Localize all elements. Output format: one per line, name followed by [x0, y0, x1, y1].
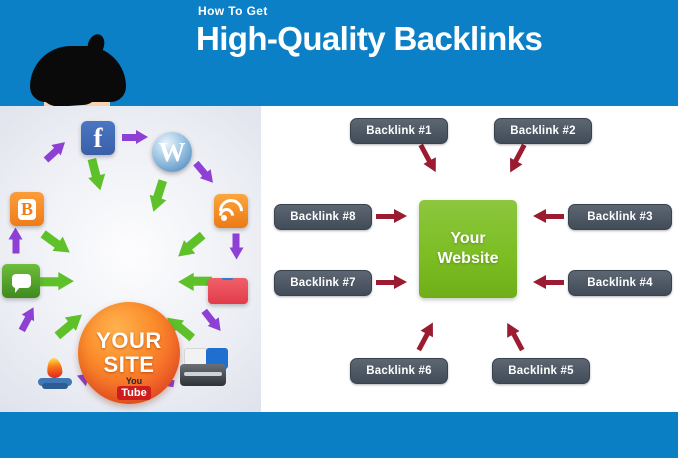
- wordpress-icon[interactable]: W: [152, 132, 192, 172]
- arrow-backlink7-to-website: [376, 275, 414, 290]
- outbound-arrow-chat-to-blogger: [9, 228, 22, 254]
- rss-arc-large: [214, 194, 248, 228]
- backlink-box-1[interactable]: Backlink #1: [350, 118, 448, 144]
- chat-bubble-icon[interactable]: [2, 264, 40, 298]
- outbound-arrow-wordpress-to-rss: [192, 158, 219, 186]
- device-icon[interactable]: [178, 346, 230, 390]
- youtube-icon[interactable]: You Tube: [110, 372, 158, 404]
- blogger-icon[interactable]: B: [10, 192, 44, 226]
- hub-label-line1: YOUR: [96, 329, 162, 353]
- inbound-arrow-from-flickr: [178, 274, 212, 291]
- outbound-arrow-campfire-to-chat: [15, 304, 39, 333]
- backlink-box-3[interactable]: Backlink #3: [568, 204, 672, 230]
- infographic-canvas: How To Get High-Quality Backlinks: [0, 0, 678, 458]
- facebook-glyph: f: [94, 123, 103, 154]
- campfire-log-lower: [42, 383, 68, 389]
- inbound-arrow-from-rss: [173, 230, 208, 263]
- facebook-icon[interactable]: f: [81, 121, 115, 155]
- mascot-illustration: [14, 20, 144, 106]
- your-website-box: Your Website: [419, 200, 517, 298]
- inbound-arrow-from-wordpress: [146, 179, 171, 215]
- inbound-arrow-from-blogger: [39, 226, 75, 258]
- bottom-blue-band: [0, 412, 678, 458]
- inbound-arrow-from-facebook: [85, 157, 109, 192]
- outbound-arrow-blogger-to-facebook: [41, 137, 69, 164]
- youtube-word-you: You: [126, 377, 142, 386]
- social-hub-panel: YOUR SITE f W B: [0, 106, 262, 412]
- campfire-icon[interactable]: [36, 358, 74, 390]
- social-hub-background: YOUR SITE f W B: [0, 106, 262, 412]
- arrow-backlink5-to-website: [500, 317, 529, 353]
- backlink-box-2[interactable]: Backlink #2: [494, 118, 592, 144]
- arrow-backlink6-to-website: [412, 317, 441, 353]
- arrow-backlink4-to-website: [526, 275, 564, 290]
- chat-bubble-shape: [12, 274, 31, 288]
- youtube-word-tube: Tube: [117, 386, 150, 400]
- backlink-box-7[interactable]: Backlink #7: [274, 270, 372, 296]
- arrow-backlink8-to-website: [376, 209, 414, 224]
- website-label-line2: Website: [437, 249, 498, 269]
- backlink-box-8[interactable]: Backlink #8: [274, 204, 372, 230]
- page-title: High-Quality Backlinks: [196, 20, 542, 58]
- blogger-glyph: B: [18, 199, 36, 220]
- arrow-backlink1-to-website: [414, 141, 443, 177]
- mascot-hair: [30, 46, 126, 102]
- backlink-box-6[interactable]: Backlink #6: [350, 358, 448, 384]
- arrow-backlink2-to-website: [502, 141, 531, 177]
- rss-icon[interactable]: [214, 194, 248, 228]
- backlink-diagram-panel: Your Website Backlink #1 Backlink #2 Bac…: [262, 106, 678, 412]
- outbound-arrow-rss-to-flickr: [231, 234, 244, 260]
- website-label-line1: Your: [450, 229, 485, 249]
- device-keyboard: [184, 372, 222, 376]
- header-banner: How To Get High-Quality Backlinks: [0, 0, 678, 106]
- flickr-icon[interactable]: [208, 278, 248, 304]
- inbound-arrow-from-chat: [40, 272, 74, 289]
- wordpress-glyph: W: [159, 137, 186, 168]
- backlink-box-5[interactable]: Backlink #5: [492, 358, 590, 384]
- outbound-arrow-flickr-to-device: [200, 306, 226, 334]
- flickr-tab: [222, 278, 233, 280]
- arrow-backlink3-to-website: [526, 209, 564, 224]
- campfire-flame: [46, 358, 63, 379]
- outbound-arrow-facebook-to-wordpress: [122, 130, 148, 143]
- backlink-box-4[interactable]: Backlink #4: [568, 270, 672, 296]
- header-eyebrow: How To Get: [198, 4, 268, 18]
